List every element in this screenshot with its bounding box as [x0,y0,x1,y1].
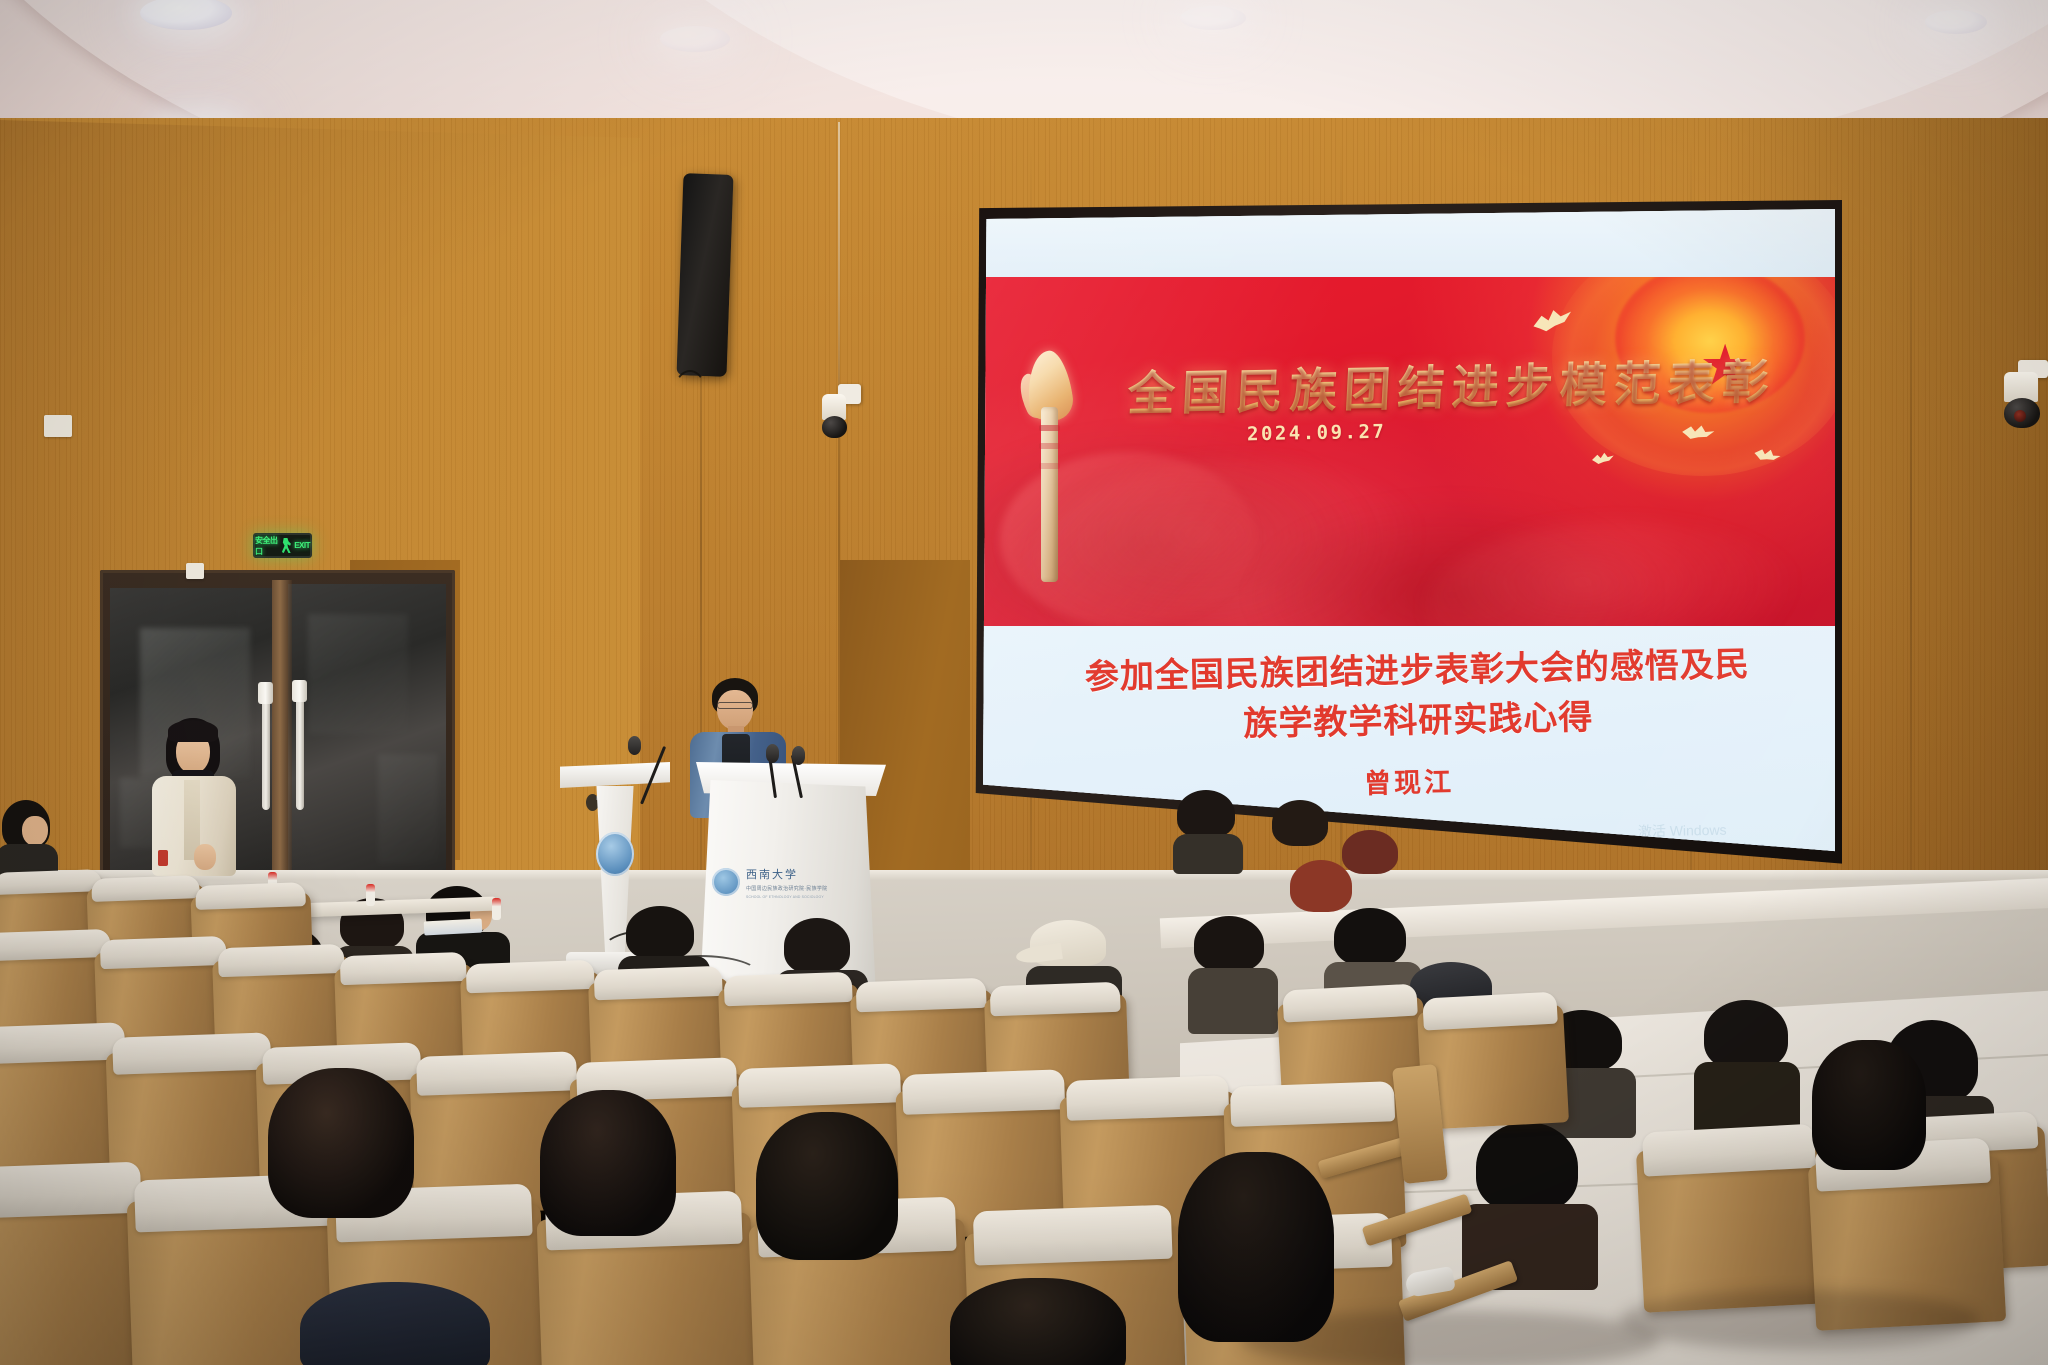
glass-door-panel-right [288,584,446,884]
audience-member-front [1812,1040,1932,1200]
podium-institution-sub-en: SCHOOL OF ETHNOLOGY AND SOCIOLOGY [746,895,827,899]
host-hair-front [168,720,218,742]
slide-red-banner: 全国民族团结进步模范表彰 2024.09.27 [983,277,1835,626]
audience-member-front [756,1112,904,1312]
audience-member [1190,916,1276,1026]
microphone-head [766,744,779,763]
audience-member [0,800,58,872]
audience-member [1175,790,1241,866]
presenter-face [717,690,753,730]
exit-sign-label-en: EXIT [294,541,310,550]
torch-shaft [1041,407,1058,582]
wall-switch-plate[interactable] [44,415,72,437]
ceiling-downlight [660,26,730,52]
led-screen[interactable]: 全国民族团结进步模范表彰 2024.09.27 参加全国民族团结进步表彰大会的感… [974,200,1842,880]
presentation-slide: 全国民族团结进步模范表彰 2024.09.27 参加全国民族团结进步表彰大会的感… [983,207,1835,871]
torch-graphic [1021,351,1091,581]
exit-sign: 安全出口 EXIT [253,533,312,558]
audience-member-front-with-cap [300,1282,500,1365]
navy-cap [300,1282,490,1365]
door-handle-knob-right[interactable] [292,680,307,702]
microphone-head [792,746,805,765]
university-seal-icon [712,868,740,896]
ceiling-downlight [1180,6,1246,30]
audience-member [1700,1000,1796,1128]
slide-lower-panel: 参加全国民族团结进步表彰大会的感悟及民 族学教学科研实践心得 曾现江 激活 Wi… [983,626,1835,871]
door-handle-knob-left[interactable] [258,682,273,704]
audience-member-front [950,1278,1130,1365]
podium-institution-logo: 西南大学 中国周边民族政治研究院·民族学院 SCHOOL OF ETHNOLOG… [712,862,842,902]
wall-switch-plate[interactable] [186,563,204,579]
water-bottle [366,884,375,906]
audience-member-front [1178,1152,1338,1362]
door-mullion [272,580,292,885]
camera-wire [838,122,840,384]
slide-banner-date: 2024.09.27 [1247,421,1387,446]
speaker-cable [672,370,708,426]
water-bottle [492,898,501,920]
dove-icon [1592,451,1615,467]
auditorium-seat[interactable] [1636,1141,1830,1313]
door-handle-right [296,688,304,810]
presenter-glasses [717,702,753,709]
host-hand [194,844,216,870]
audience-member-front [268,1068,418,1278]
podium-institution-sub: 中国周边民族政治研究院·民族学院 [746,885,827,892]
slide-banner-title: 全国民族团结进步模范表彰 [1126,343,1777,425]
auditorium-photo-scene: 安全出口 EXIT [0,0,2048,1365]
host-badge [158,850,168,866]
slide-subtitle: 参加全国民族团结进步表彰大会的感悟及民 族学教学科研实践心得 [1042,638,1794,753]
ceiling-downlight [1925,10,1987,34]
slide-top-band [983,207,1835,277]
audience-member [1470,1122,1590,1282]
ptz-dome-camera-right [1996,360,2048,432]
podium-institution-name: 西南大学 [746,866,827,882]
ptz-dome-camera-left [820,382,866,444]
camera-lens [2014,410,2026,422]
screen-display-surface[interactable]: 全国民族团结进步模范表彰 2024.09.27 参加全国民族团结进步表彰大会的感… [983,207,1835,871]
microphone-head [628,736,641,755]
camera-dome [822,416,847,438]
podium-stand-seal-icon [596,832,634,876]
running-person-icon [282,538,293,553]
seat-shadow [1620,1290,1980,1350]
standing-host [148,718,258,878]
audience-member [1290,860,1360,944]
door-handle-left [262,690,270,810]
audience-member-front [540,1090,680,1290]
exit-sign-label-cn: 安全出口 [255,535,280,557]
wall-speaker [676,173,733,377]
